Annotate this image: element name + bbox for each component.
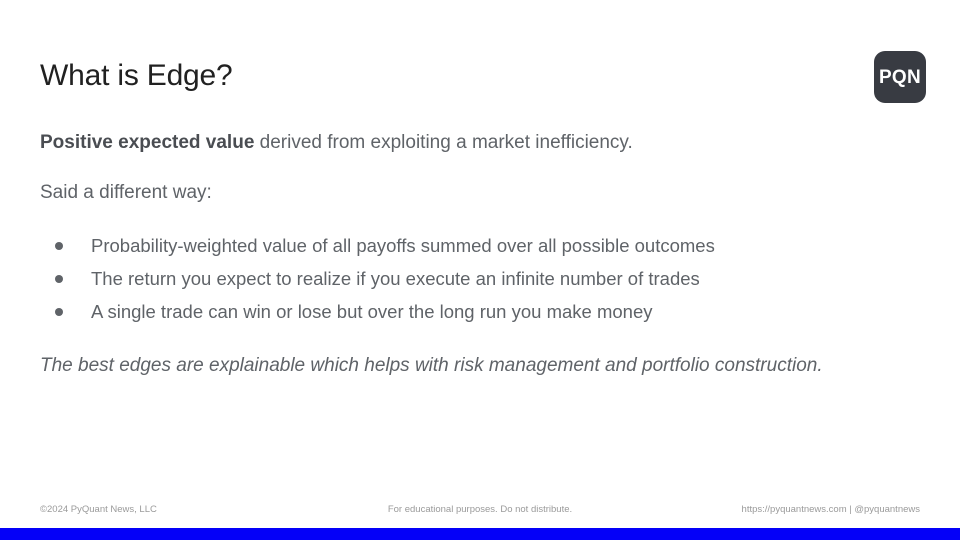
lead-paragraph-emphasis: Positive expected value xyxy=(40,132,254,153)
transition-line: Said a different way: xyxy=(40,178,920,208)
slide-footer: ©2024 PyQuant News, LLC For educational … xyxy=(0,503,960,519)
bullet-dot-icon xyxy=(55,308,63,316)
lead-paragraph: Positive expected value derived from exp… xyxy=(40,128,920,158)
list-item: A single trade can win or lose but over … xyxy=(40,295,920,328)
logo-text: PQN xyxy=(879,68,921,87)
closing-paragraph: The best edges are explainable which hel… xyxy=(40,350,910,382)
page-title: What is Edge? xyxy=(40,56,233,96)
pqn-logo: PQN xyxy=(874,51,926,103)
slide-body: Positive expected value derived from exp… xyxy=(40,128,920,382)
bullet-dot-icon xyxy=(55,242,63,250)
list-item: Probability-weighted value of all payoff… xyxy=(40,229,920,262)
slide-canvas: What is Edge? PQN Positive expected valu… xyxy=(0,0,960,540)
footer-contact: https://pyquantnews.com | @pyquantnews xyxy=(742,503,920,517)
lead-paragraph-rest: derived from exploiting a market ineffic… xyxy=(254,132,632,153)
list-item-label: The return you expect to realize if you … xyxy=(91,268,700,289)
bullet-dot-icon xyxy=(55,275,63,283)
list-item-label: Probability-weighted value of all payoff… xyxy=(91,235,715,256)
bullet-list: Probability-weighted value of all payoff… xyxy=(40,229,920,328)
list-item-label: A single trade can win or lose but over … xyxy=(91,301,653,322)
list-item: The return you expect to realize if you … xyxy=(40,262,920,295)
footer-disclaimer: For educational purposes. Do not distrib… xyxy=(388,503,572,517)
footer-copyright: ©2024 PyQuant News, LLC xyxy=(40,503,157,517)
accent-bar xyxy=(0,528,960,540)
